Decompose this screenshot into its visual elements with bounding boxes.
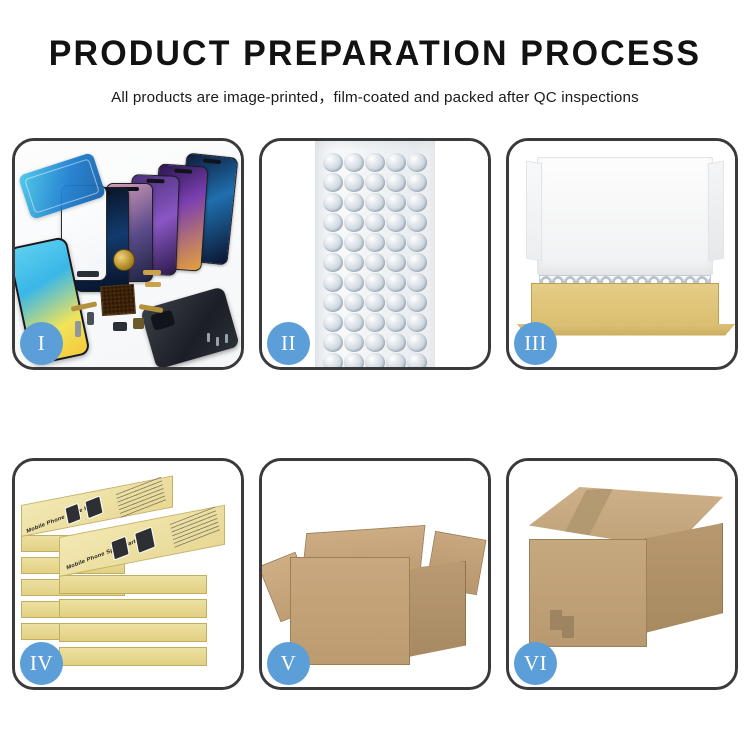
step-badge-3: III [514, 322, 557, 365]
bubble-icon [386, 193, 406, 212]
carton-front-face [290, 557, 410, 665]
bubble-icon [407, 333, 427, 352]
bubble-icon [365, 333, 385, 352]
notch-icon [174, 168, 192, 173]
bubble-icon [323, 273, 343, 292]
bubble-icon [344, 193, 364, 212]
box-artwork-screen [134, 526, 156, 554]
bubble-icon [344, 213, 364, 232]
step-badge-2: II [267, 322, 310, 365]
bubble-icon [365, 273, 385, 292]
notch-icon [146, 179, 164, 184]
bubble-icon [323, 333, 343, 352]
bubble-icon [365, 153, 385, 172]
bubble-icon [407, 313, 427, 332]
bubble-icon [365, 213, 385, 232]
spare-part-icon [87, 312, 94, 325]
bubble-icon [344, 173, 364, 192]
screws-icon [207, 333, 233, 353]
speaker-coil-icon [113, 249, 135, 271]
carton-side-face [645, 523, 723, 633]
bubble-icon [323, 153, 343, 172]
bubble-icon [407, 233, 427, 252]
bubble-icon [365, 233, 385, 252]
bubble-icon [365, 353, 385, 367]
bubble-icon [344, 313, 364, 332]
bubble-icon [344, 353, 364, 367]
stacked-box [59, 647, 207, 666]
bubble-icon [344, 333, 364, 352]
bubble-icon [386, 293, 406, 312]
step-panel-6: VI [506, 458, 738, 690]
bubble-icon [386, 233, 406, 252]
bubble-icon [323, 193, 343, 212]
stacked-box [59, 623, 207, 642]
bubble-icon [386, 213, 406, 232]
bubble-icon [344, 253, 364, 272]
spare-part-icon [113, 322, 127, 331]
bubble-icon [344, 273, 364, 292]
flex-cable-icon [145, 282, 161, 287]
box-artwork-screen [64, 503, 81, 525]
bubble-icon [323, 353, 343, 367]
page-subtitle: All products are image-printed，film-coat… [0, 85, 750, 107]
bubble-icon [407, 293, 427, 312]
stacked-box [59, 575, 207, 594]
bubble-icon [365, 313, 385, 332]
bubble-icon [323, 213, 343, 232]
box-text-block [170, 507, 220, 549]
bubble-icon [344, 233, 364, 252]
spare-part-icon [77, 271, 99, 277]
bubble-icon [386, 313, 406, 332]
bubble-icon [323, 313, 343, 332]
bubble-icon [407, 253, 427, 272]
carton-seam [550, 610, 562, 630]
box-lid-icon [537, 157, 713, 275]
notch-icon [203, 158, 221, 164]
bubble-icon [344, 293, 364, 312]
step-panel-2: II [259, 138, 491, 370]
bubble-icon [365, 193, 385, 212]
carton-front-face [529, 539, 647, 647]
step-panel-1: I [12, 138, 244, 370]
bubble-wrap-sleeve [315, 141, 435, 367]
step-badge-5: V [267, 642, 310, 685]
bubble-icon [386, 173, 406, 192]
bubble-grid [323, 153, 427, 361]
bubble-icon [323, 293, 343, 312]
bubble-icon [386, 273, 406, 292]
bubble-icon [407, 193, 427, 212]
bubble-icon [407, 153, 427, 172]
bubble-icon [407, 173, 427, 192]
inner-box-tray-icon [531, 283, 719, 329]
step-badge-4: IV [20, 642, 63, 685]
bubble-icon [323, 253, 343, 272]
page-title: PRODUCT PREPARATION PROCESS [11, 34, 739, 74]
bubble-icon [386, 153, 406, 172]
step-panel-5: V [259, 458, 491, 690]
box-text-block [116, 477, 166, 519]
bubble-icon [407, 353, 427, 367]
open-carton [290, 545, 466, 665]
bubble-icon [386, 253, 406, 272]
carton-side-face [408, 561, 466, 657]
flex-cable-icon [143, 270, 161, 275]
sealed-carton [529, 487, 723, 659]
box-artwork-screen [110, 536, 130, 561]
bubble-icon [407, 213, 427, 232]
step-badge-1: I [20, 322, 63, 365]
spare-part-icon [75, 321, 81, 337]
bubble-icon [407, 273, 427, 292]
bubble-icon [323, 173, 343, 192]
bubble-icon [323, 233, 343, 252]
bubble-icon [365, 293, 385, 312]
step-panel-3: III [506, 138, 738, 370]
bubble-icon [386, 353, 406, 367]
phone-backplate-icon [140, 286, 240, 367]
bubble-icon [365, 253, 385, 272]
box-artwork-screen [84, 495, 103, 519]
bubble-icon [365, 173, 385, 192]
infographic-page: PRODUCT PREPARATION PROCESS All products… [0, 0, 750, 750]
step-badge-6: VI [514, 642, 557, 685]
process-steps-grid: I II III [12, 138, 738, 690]
step-panel-4: Mobile Phone Spare Parts Mobile Phone Sp… [12, 458, 244, 690]
spare-part-icon [133, 318, 144, 329]
bubble-icon [344, 153, 364, 172]
header: PRODUCT PREPARATION PROCESS All products… [0, 0, 750, 107]
chip-icon [100, 284, 136, 316]
carton-seam [562, 616, 574, 638]
bubble-icon [386, 333, 406, 352]
stacked-box [59, 599, 207, 618]
